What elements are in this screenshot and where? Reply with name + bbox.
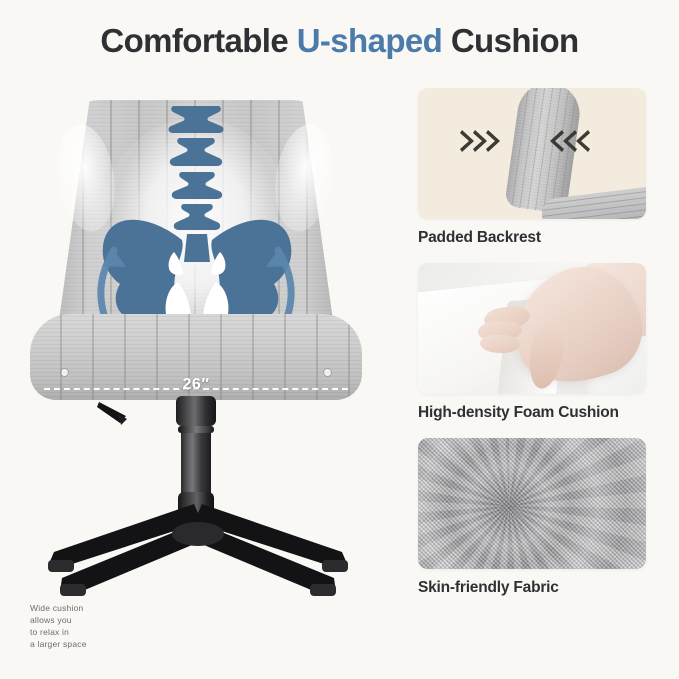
- cylinder-collar: [176, 396, 216, 426]
- title-part-2: Cushion: [442, 22, 578, 59]
- chair-graphic: 26″: [18, 100, 378, 600]
- hero-chair-illustration: 26″: [0, 78, 400, 678]
- feature-label-foam-cushion: High-density Foam Cushion: [418, 404, 646, 422]
- caption-line-3: to relax in: [30, 626, 87, 638]
- title-part-1: Comfortable: [100, 22, 296, 59]
- feature-image-padded-backrest: [418, 88, 646, 219]
- feature-skin-friendly-fabric: Skin-friendly Fabric: [418, 438, 646, 597]
- page-title: Comfortable U-shaped Cushion: [0, 22, 679, 60]
- title-accent: U-shaped: [297, 22, 443, 59]
- feature-image-foam-cushion: [418, 263, 646, 394]
- chevron-right-arrows-icon: [460, 128, 504, 154]
- chevron-left-arrows-icon: [546, 128, 590, 154]
- infographic-root: Comfortable U-shaped Cushion: [0, 0, 679, 679]
- caption-line-1: Wide cushion: [30, 602, 87, 614]
- height-adjust-lever-icon: [96, 400, 130, 426]
- feature-padded-backrest: Padded Backrest: [418, 88, 646, 247]
- feature-label-padded-backrest: Padded Backrest: [418, 229, 646, 247]
- feature-list: Padded Backrest High-density Foam Cushio…: [418, 88, 646, 613]
- cylinder-ring: [178, 426, 214, 433]
- feature-image-fabric: [418, 438, 646, 569]
- seat-width-label: 26″: [18, 376, 374, 394]
- feature-label-fabric: Skin-friendly Fabric: [418, 579, 646, 597]
- four-star-swivel-base: [18, 460, 378, 600]
- chair-backrest: [56, 100, 336, 342]
- caption-line-2: allows you: [30, 614, 87, 626]
- feature-foam-cushion: High-density Foam Cushion: [418, 263, 646, 422]
- wide-cushion-caption: Wide cushion allows you to relax in a la…: [30, 602, 87, 650]
- caption-line-4: a larger space: [30, 638, 87, 650]
